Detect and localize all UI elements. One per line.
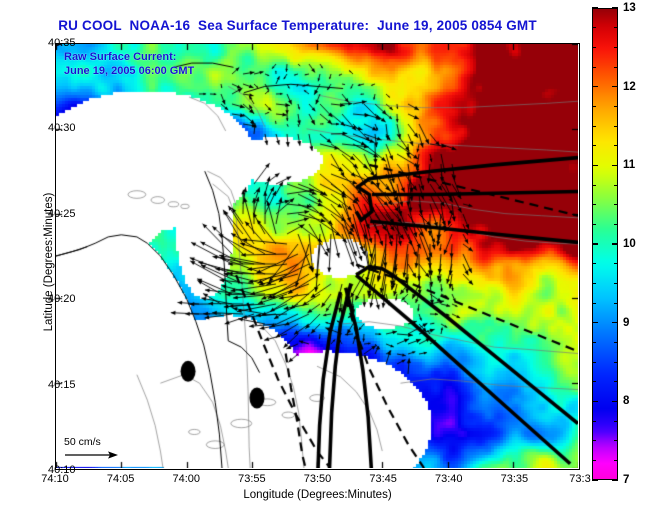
colorbar-tick-label: 13 [623,2,636,14]
colorbar-minor-tick [614,47,618,48]
colorbar-minor-tick [614,27,618,28]
x-tick-label: 73:35 [501,473,529,485]
colorbar-minor-tick [592,480,596,481]
y-axis-label: Latitude (Degrees:Minutes) [43,162,55,362]
colorbar-minor-tick [592,460,596,461]
x-tick-label: 73:3 [569,473,590,485]
annotation-current-time: June 19, 2005 06:00 GMT [64,65,194,77]
colorbar-minor-tick [592,244,596,245]
colorbar-minor-tick [592,106,596,107]
colorbar-minor-tick [592,401,596,402]
colorbar-minor-tick [614,165,618,166]
colorbar-minor-tick [614,401,618,402]
colorbar-minor-tick [614,106,618,107]
sst-field-canvas [56,44,578,468]
colorbar-minor-tick [592,8,596,9]
colorbar-tick-label: 12 [623,81,636,93]
colorbar-minor-tick [614,362,618,363]
colorbar-minor-tick [592,145,596,146]
colorbar-minor-tick [592,362,596,363]
colorbar-minor-tick [592,185,596,186]
colorbar-minor-tick [592,342,596,343]
colorbar-minor-tick [614,145,618,146]
colorbar-minor-tick [614,185,618,186]
colorbar-minor-tick [614,263,618,264]
colorbar-minor-tick [614,460,618,461]
colorbar-minor-tick [614,480,618,481]
x-axis-label: Longitude (Degrees:Minutes) [55,489,580,501]
colorbar-tick-label: 7 [623,474,629,486]
colorbar-tick-label: 9 [623,317,629,329]
x-tick-label: 73:45 [369,473,397,485]
colorbar-minor-tick [592,440,596,441]
colorbar-minor-tick [614,342,618,343]
colorbar-tick-label: 11 [623,159,635,171]
annotation-surface-current: Raw Surface Current: [64,51,176,63]
x-tick-label: 73:40 [435,473,463,485]
velocity-scale-label: 50 cm/s [64,436,120,448]
colorbar-minor-tick [592,224,596,225]
colorbar-minor-tick [592,67,596,68]
colorbar-minor-tick [614,283,618,284]
colorbar-minor-tick [614,421,618,422]
colorbar-minor-tick [592,263,596,264]
colorbar-tick-label: 8 [623,395,629,407]
right-arrow-icon [64,449,120,461]
colorbar-minor-tick [614,244,618,245]
colorbar-minor-tick [614,440,618,441]
x-tick-label: 73:55 [238,473,266,485]
velocity-scale-key: 50 cm/s [64,436,120,461]
figure-title: RU COOL NOAA-16 Sea Surface Temperature:… [0,18,595,33]
x-tick-label: 73:50 [304,473,332,485]
colorbar-minor-tick [592,27,596,28]
colorbar-minor-tick [614,381,618,382]
colorbar-minor-tick [614,322,618,323]
colorbar-minor-tick [592,421,596,422]
colorbar-minor-tick [592,283,596,284]
colorbar-minor-tick [592,126,596,127]
colorbar-minor-tick [614,126,618,127]
colorbar-minor-tick [614,67,618,68]
colorbar-tick-label: 10 [623,238,636,250]
sst-map-figure: RU COOL NOAA-16 Sea Surface Temperature:… [0,0,651,515]
colorbar-minor-tick [614,86,618,87]
colorbar-minor-tick [592,303,596,304]
colorbar-minor-tick [592,86,596,87]
colorbar-minor-tick [614,224,618,225]
map-plot-area: Raw Surface Current: June 19, 2005 06:00… [55,43,580,470]
colorbar-minor-tick [614,204,618,205]
x-tick-label: 74:00 [172,473,200,485]
colorbar-minor-tick [592,47,596,48]
colorbar-minor-tick [592,322,596,323]
colorbar-minor-tick [592,165,596,166]
colorbar-minor-tick [614,303,618,304]
colorbar-minor-tick [592,381,596,382]
colorbar-minor-tick [592,204,596,205]
x-tick-label: 74:05 [107,473,135,485]
colorbar-minor-tick [614,8,618,9]
